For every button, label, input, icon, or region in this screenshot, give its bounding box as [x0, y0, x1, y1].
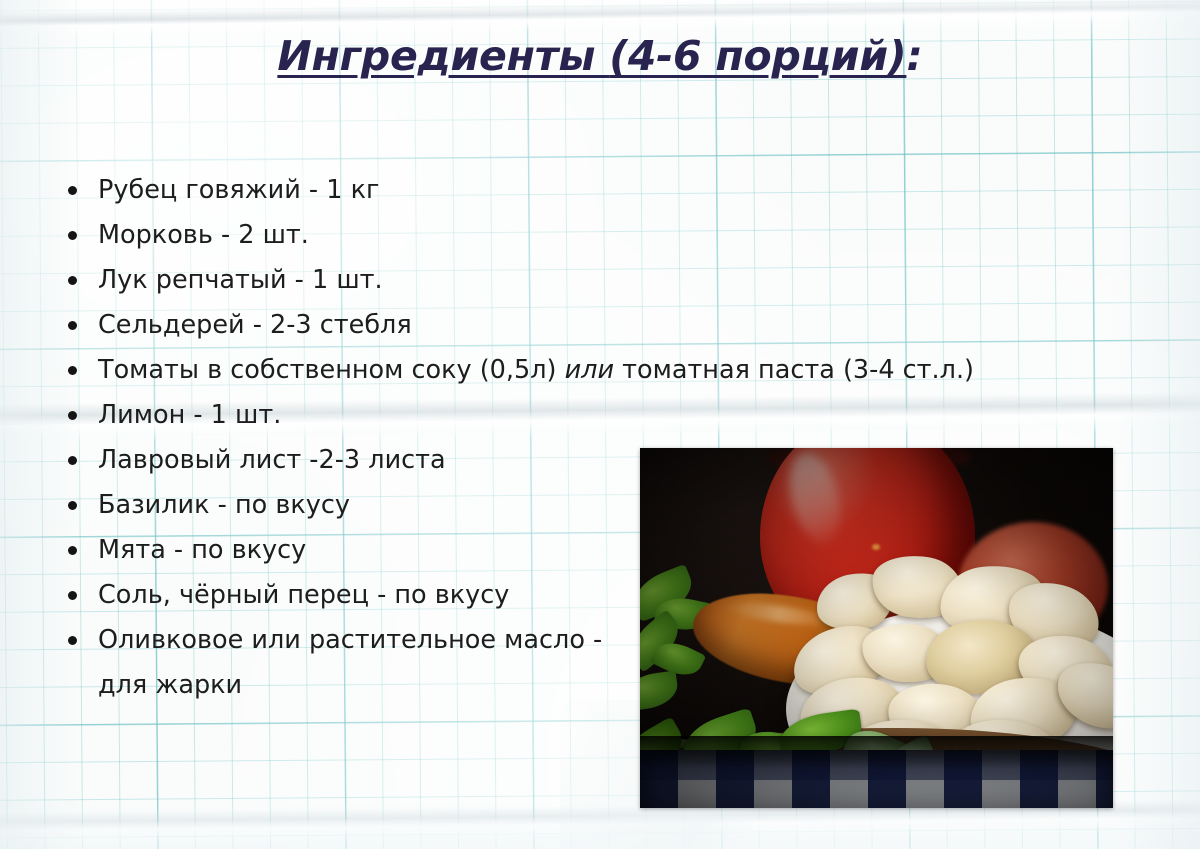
- bullet-icon: [68, 636, 77, 645]
- list-item: Рубец говяжий - 1 кг: [62, 168, 1102, 213]
- list-item-label: Лавровый лист -2-3 листа: [98, 445, 446, 475]
- list-item: Оливковое или растительное масло - для ж…: [62, 618, 618, 708]
- page-title-suffix: (4-6 порций): [609, 32, 906, 80]
- page-title-prefix: Ингредиенты: [277, 32, 609, 80]
- slide-content: Ингредиенты (4-6 порций): Рубец говяжий …: [0, 0, 1200, 849]
- bullet-icon: [68, 186, 77, 195]
- list-item: Лимон - 1 шт.: [62, 393, 1102, 438]
- list-item: Лук репчатый - 1 шт.: [62, 258, 1102, 303]
- bullet-icon: [68, 321, 77, 330]
- list-item-label: Сельдерей - 2-3 стебля: [98, 310, 412, 340]
- bullet-icon: [68, 456, 77, 465]
- list-item-label: Базилик - по вкусу: [98, 490, 350, 520]
- list-item-label: Соль, чёрный перец - по вкусу: [98, 580, 509, 610]
- bullet-icon: [68, 546, 77, 555]
- list-item-label-part: томатная паста (3-4 ст.л.): [614, 355, 974, 385]
- list-item: Томаты в собственном соку (0,5л) или том…: [62, 348, 1102, 393]
- list-item-label: Лук репчатый - 1 шт.: [98, 265, 383, 295]
- page-title-colon: :: [906, 32, 922, 80]
- bullet-icon: [68, 276, 77, 285]
- bullet-icon: [68, 366, 77, 375]
- tomato-seed: [872, 544, 880, 550]
- list-item-label: Рубец говяжий - 1 кг: [98, 175, 379, 205]
- list-item-label: Лимон - 1 шт.: [98, 400, 281, 430]
- list-item: Морковь - 2 шт.: [62, 213, 1102, 258]
- list-item-label: Морковь - 2 шт.: [98, 220, 309, 250]
- dish-photo: [640, 448, 1113, 808]
- bullet-icon: [68, 501, 77, 510]
- photo-scene: [640, 448, 1113, 808]
- list-item: Сельдерей - 2-3 стебля: [62, 303, 1102, 348]
- bullet-icon: [68, 591, 77, 600]
- bullet-icon: [68, 231, 77, 240]
- list-item-label: Оливковое или растительное масло - для ж…: [98, 625, 602, 700]
- list-item-label: Мята - по вкусу: [98, 535, 306, 565]
- tablecloth-shadow: [640, 736, 1113, 808]
- list-item-label-part: Томаты в собственном соку (0,5л): [98, 355, 565, 385]
- recipe-slide: Ингредиенты (4-6 порций): Рубец говяжий …: [0, 0, 1200, 849]
- list-item-label-emphasis: или: [565, 355, 614, 385]
- page-title: Ингредиенты (4-6 порций):: [0, 32, 1200, 80]
- bullet-icon: [68, 411, 77, 420]
